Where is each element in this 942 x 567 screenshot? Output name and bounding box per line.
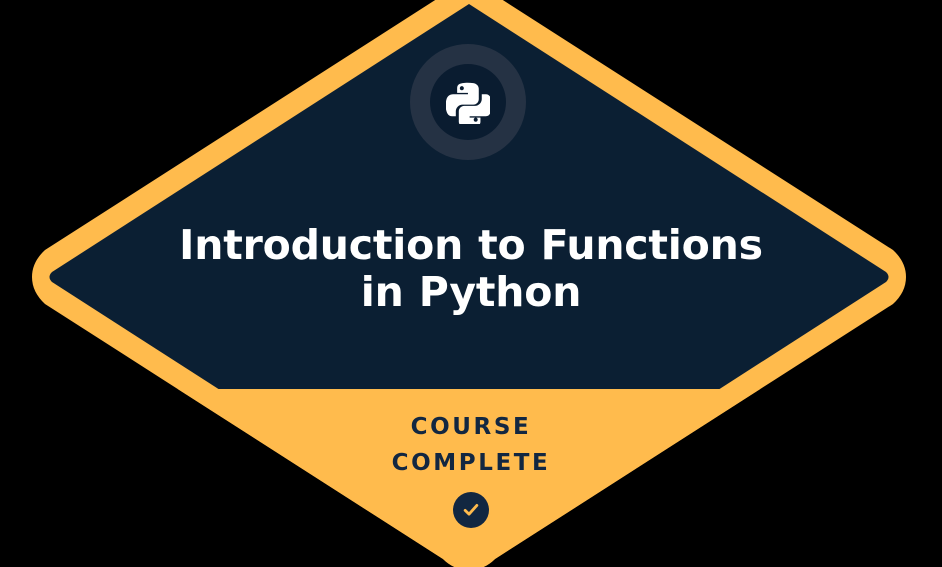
course-title: Introduction to Functions in Python <box>171 222 771 316</box>
check-circle-icon <box>461 500 481 520</box>
status-label-line1: COURSE <box>171 409 771 445</box>
python-logo-icon <box>446 80 490 124</box>
python-emblem-ring-outer <box>410 44 526 160</box>
status-label-line2: COMPLETE <box>171 445 771 481</box>
python-emblem-ring-inner <box>430 64 506 140</box>
course-completion-badge: Introduction to Functions in Python COUR… <box>0 0 942 567</box>
completion-check-badge <box>453 492 489 528</box>
completion-status: COURSE COMPLETE <box>171 409 771 528</box>
